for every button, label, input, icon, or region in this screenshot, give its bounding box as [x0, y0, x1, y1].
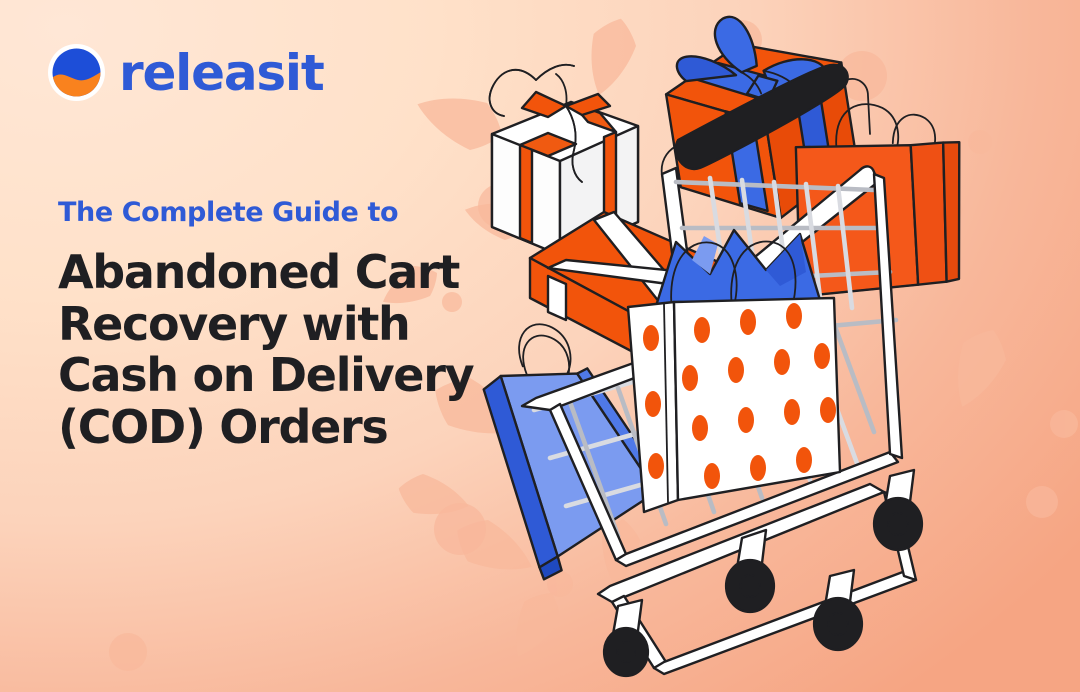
brand-logo[interactable]: releasit: [48, 44, 324, 101]
headline-block: The Complete Guide to Abandoned Cart Rec…: [58, 198, 528, 453]
brand-wordmark: releasit: [119, 48, 324, 98]
title-line-2: Recovery with: [58, 299, 528, 351]
releasit-circle-wave-logo-icon: [48, 44, 105, 101]
blog-cover-canvas: releasit The Complete Guide to Abandoned…: [0, 0, 1080, 692]
page-title: Abandoned Cart Recovery with Cash on Del…: [58, 247, 528, 453]
title-line-3: Cash on Delivery: [58, 350, 528, 402]
title-line-1: Abandoned Cart: [58, 247, 528, 299]
title-line-4: (COD) Orders: [58, 402, 528, 454]
shopping-cart-with-gifts-and-bags-illustration: .ln { stroke:#1f1f22; stroke-width:2.4; …: [470, 14, 1080, 692]
headline-kicker: The Complete Guide to: [58, 198, 528, 228]
